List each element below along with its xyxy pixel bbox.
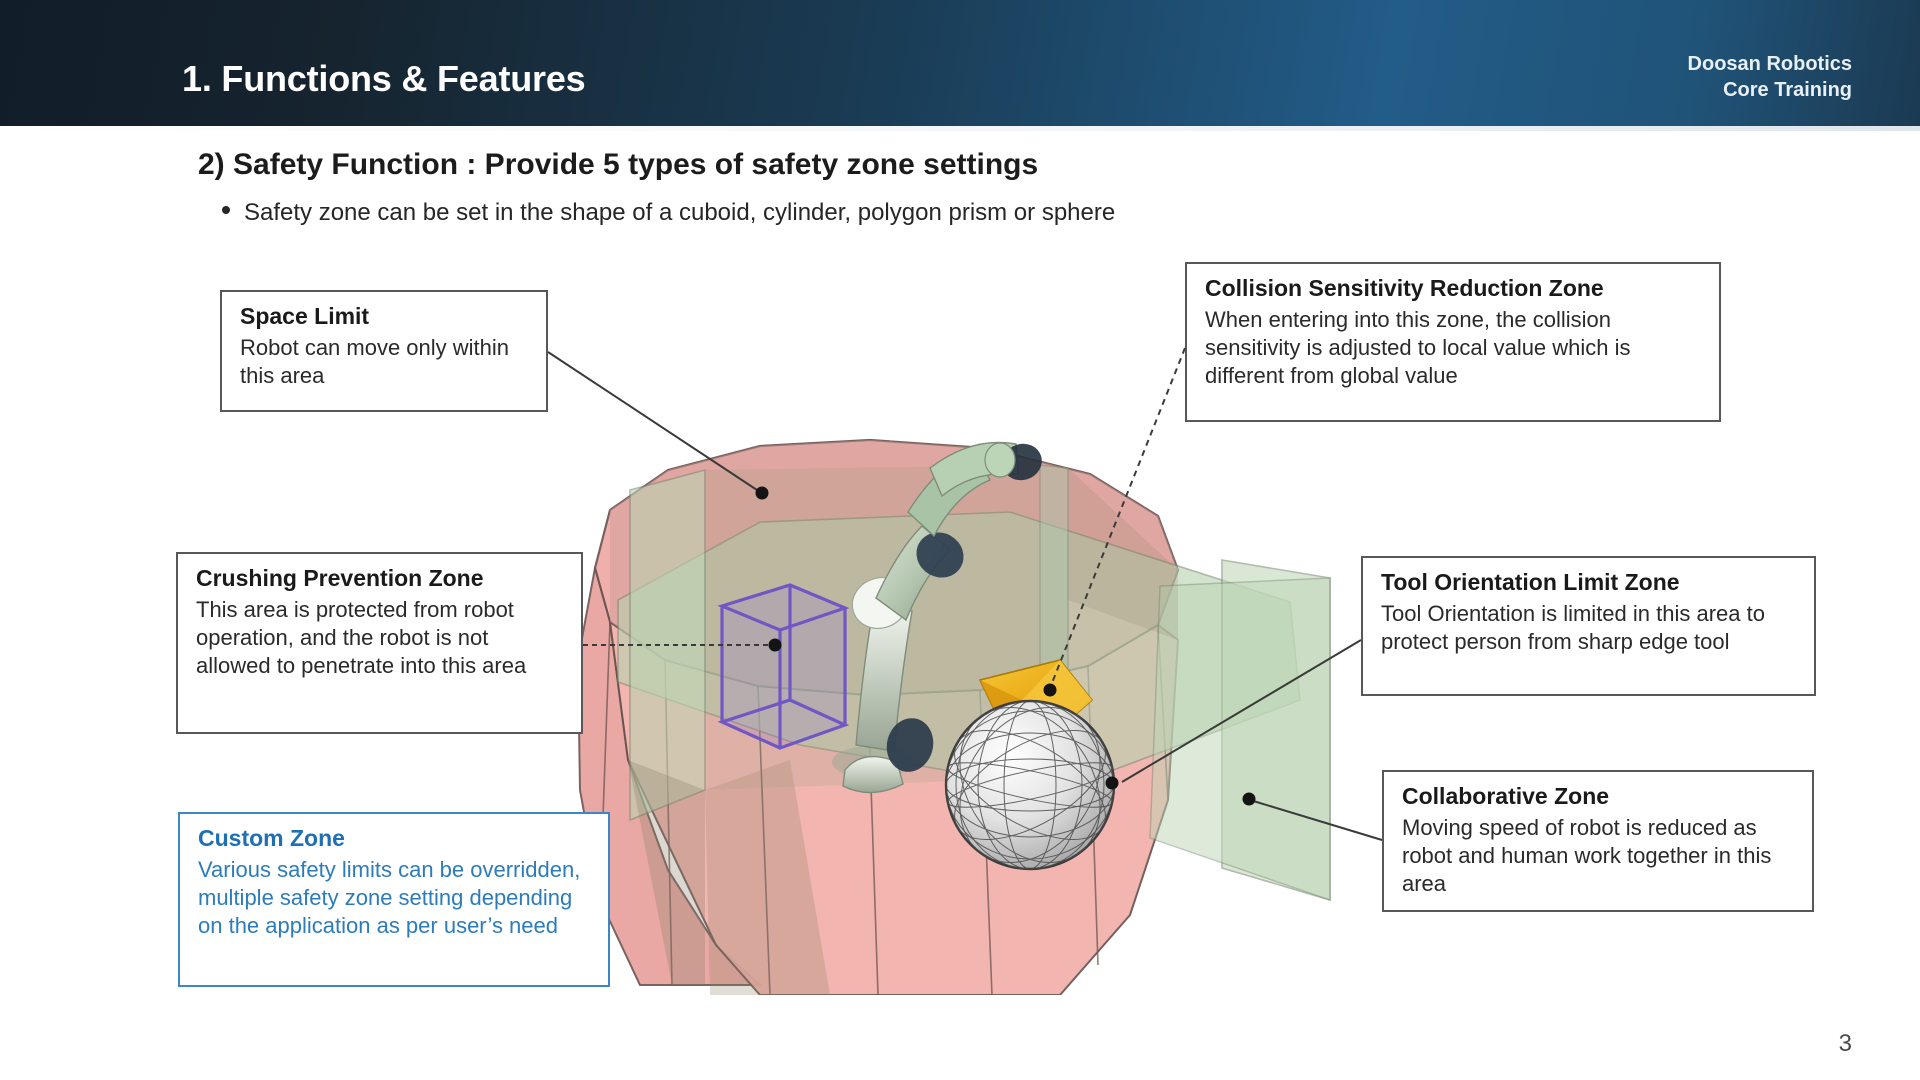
robot-arm xyxy=(832,439,1047,793)
anchor-dot-space-limit xyxy=(756,487,769,500)
crushing-prevention-cuboid xyxy=(722,585,845,748)
callout-body: Tool Orientation is limited in this area… xyxy=(1381,600,1798,655)
page-title: 1. Functions & Features xyxy=(182,58,585,100)
callout-tool-orientation-limit-zone[interactable]: Tool Orientation Limit Zone Tool Orienta… xyxy=(1361,556,1816,696)
bullet-dot-icon xyxy=(222,206,230,214)
callout-body: When entering into this zone, the collis… xyxy=(1205,306,1703,389)
tool-orientation-cone xyxy=(980,660,1092,728)
callout-title: Tool Orientation Limit Zone xyxy=(1381,568,1798,597)
callout-crushing-prevention-zone[interactable]: Crushing Prevention Zone This area is pr… xyxy=(176,552,583,734)
callout-body: Various safety limits can be overridden,… xyxy=(198,856,592,939)
slide-header: 1. Functions & Features Doosan Robotics … xyxy=(0,0,1920,126)
callout-title: Crushing Prevention Zone xyxy=(196,564,565,593)
anchor-dot-collaborative xyxy=(1243,793,1256,806)
bullet-text: Safety zone can be set in the shape of a… xyxy=(244,199,1115,227)
brand-line-2: Core Training xyxy=(1688,78,1852,104)
callout-body: This area is protected from robot operat… xyxy=(196,596,565,679)
sphere-zone xyxy=(931,681,1129,890)
polygon-prism-zone xyxy=(578,440,1178,995)
anchor-dot-collision xyxy=(1044,684,1057,697)
callout-title: Space Limit xyxy=(240,302,530,331)
leader-collaborative xyxy=(1250,800,1382,840)
brand-block: Doosan Robotics Core Training xyxy=(1688,52,1852,103)
section-title: 2) Safety Function : Provide 5 types of … xyxy=(198,148,1038,182)
callout-space-limit[interactable]: Space Limit Robot can move only within t… xyxy=(220,290,548,412)
anchor-dot-tool-orientation xyxy=(1106,777,1119,790)
anchor-dot-crushing xyxy=(769,639,782,652)
leader-tool-orientation xyxy=(1122,640,1361,782)
callout-custom-zone[interactable]: Custom Zone Various safety limits can be… xyxy=(178,812,610,987)
callout-title: Collaborative Zone xyxy=(1402,782,1796,811)
callout-title: Custom Zone xyxy=(198,824,592,853)
brand-line-1: Doosan Robotics xyxy=(1688,52,1852,78)
zone-intersection-shading xyxy=(628,465,1178,995)
bullet-item: Safety zone can be set in the shape of a… xyxy=(222,199,1115,227)
collaborative-plane-zone xyxy=(618,465,1330,900)
leader-space-limit xyxy=(548,352,760,492)
callout-body: Robot can move only within this area xyxy=(240,334,530,389)
callout-collaborative-zone[interactable]: Collaborative Zone Moving speed of robot… xyxy=(1382,770,1814,912)
leader-collision xyxy=(1050,348,1185,688)
callout-title: Collision Sensitivity Reduction Zone xyxy=(1205,274,1703,303)
callout-collision-sensitivity-reduction-zone[interactable]: Collision Sensitivity Reduction Zone Whe… xyxy=(1185,262,1721,422)
header-underline xyxy=(0,126,1920,131)
page-number: 3 xyxy=(1839,1030,1852,1058)
callout-body: Moving speed of robot is reduced as robo… xyxy=(1402,814,1796,897)
